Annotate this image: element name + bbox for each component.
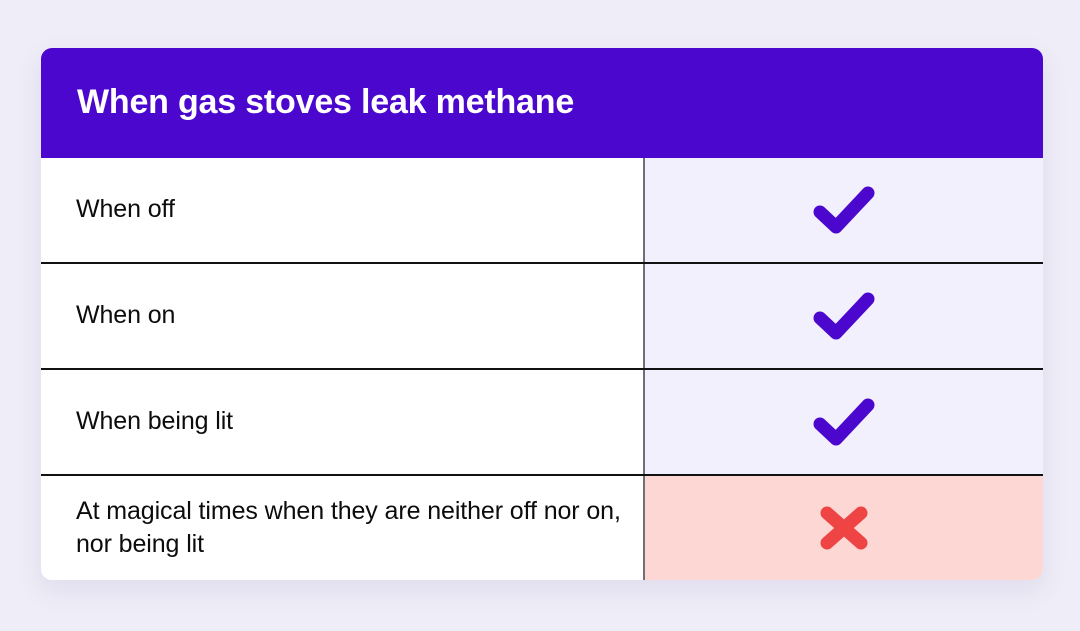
page-root: When gas stoves leak methane When off Wh… [0,0,1080,631]
card-header: When gas stoves leak methane [41,48,1043,158]
check-icon [812,397,876,447]
table-row: When on [41,262,1043,368]
table-row: When being lit [41,368,1043,474]
table-body: When off When on [41,158,1043,580]
row-label-cell: At magical times when they are neither o… [41,476,645,580]
row-label: When on [76,299,175,332]
cross-icon [816,503,872,553]
comparison-card: When gas stoves leak methane When off Wh… [41,48,1043,580]
row-label-cell: When being lit [41,370,645,474]
row-label: At magical times when they are neither o… [76,495,623,562]
table-row: At magical times when they are neither o… [41,474,1043,580]
page-title: When gas stoves leak methane [77,84,574,121]
row-label: When being lit [76,405,233,438]
row-status-cell [645,476,1043,580]
row-label-cell: When on [41,264,645,368]
check-icon [812,291,876,341]
row-label-cell: When off [41,158,645,262]
row-status-cell [645,264,1043,368]
table-row: When off [41,158,1043,262]
check-icon [812,185,876,235]
row-status-cell [645,158,1043,262]
row-status-cell [645,370,1043,474]
row-label: When off [76,193,175,226]
